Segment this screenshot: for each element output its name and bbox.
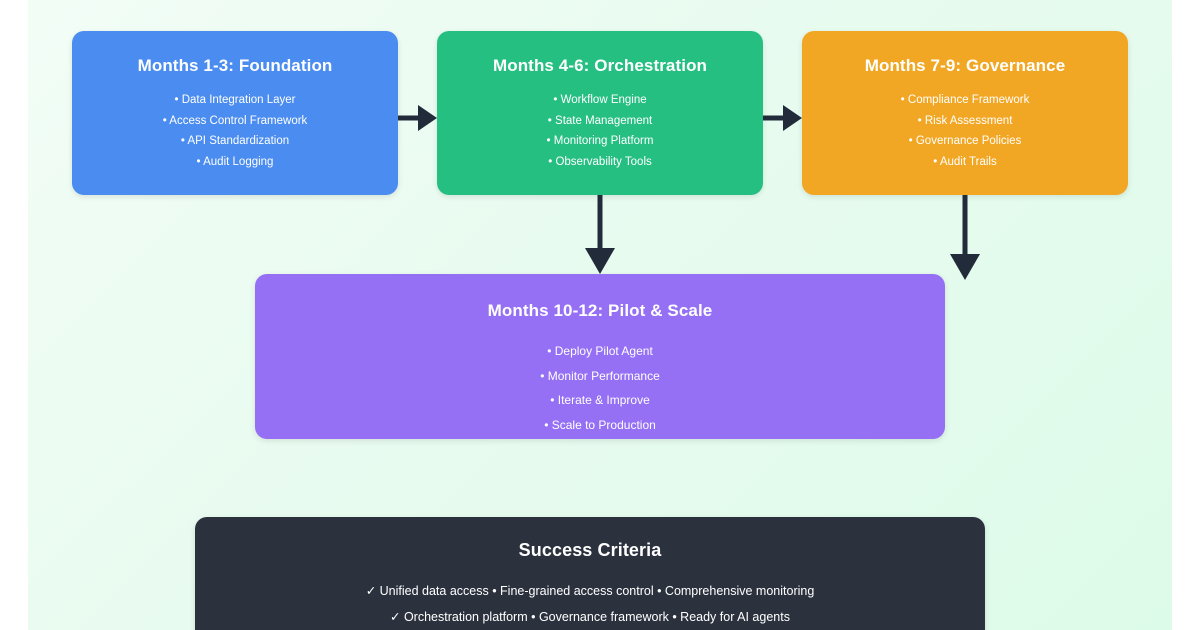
phase-card-foundation[interactable]: Months 1-3: Foundation • Data Integratio… [72,31,398,195]
list-item: • Governance Policies [802,131,1128,152]
success-criteria-lines: ✓ Unified data access • Fine-grained acc… [195,578,985,630]
success-criteria-panel: Success Criteria ✓ Unified data access •… [195,517,985,630]
arrow-right-icon [398,101,437,134]
list-item: • Workflow Engine [437,90,763,111]
arrow-shaft [963,195,968,256]
list-item: • Scale to Production [255,413,945,438]
success-criteria-line: ✓ Unified data access • Fine-grained acc… [195,578,985,604]
phase-card-items: • Data Integration Layer • Access Contro… [72,90,398,172]
list-item: • Audit Logging [72,152,398,173]
phase-card-title: Months 10-12: Pilot & Scale [255,300,945,321]
diagram-background: Months 1-3: Foundation • Data Integratio… [28,0,1172,630]
list-item: • Deploy Pilot Agent [255,339,945,364]
arrow-shaft [763,115,785,120]
arrow-head [950,254,980,280]
phase-card-items: • Compliance Framework • Risk Assessment… [802,90,1128,172]
list-item: • Risk Assessment [802,111,1128,132]
phase-card-title: Months 7-9: Governance [802,55,1128,76]
list-item: • Iterate & Improve [255,388,945,413]
phase-card-orchestration[interactable]: Months 4-6: Orchestration • Workflow Eng… [437,31,763,195]
list-item: • Observability Tools [437,152,763,173]
success-criteria-line: ✓ Orchestration platform • Governance fr… [195,604,985,630]
phase-card-title: Months 1-3: Foundation [72,55,398,76]
arrow-shaft [398,115,420,120]
list-item: • Data Integration Layer [72,90,398,111]
phase-card-pilot-scale[interactable]: Months 10-12: Pilot & Scale • Deploy Pil… [255,274,945,439]
list-item: • Compliance Framework [802,90,1128,111]
arrow-head [783,105,802,131]
phase-card-items: • Workflow Engine • State Management • M… [437,90,763,172]
arrow-down-icon [585,195,615,274]
phase-card-items: • Deploy Pilot Agent • Monitor Performan… [255,339,945,437]
arrow-head [585,248,615,274]
arrow-down-icon [950,195,980,280]
arrow-head [418,105,437,131]
phase-card-governance[interactable]: Months 7-9: Governance • Compliance Fram… [802,31,1128,195]
list-item: • Monitor Performance [255,364,945,389]
arrow-right-icon [763,101,802,134]
diagram-canvas: Months 1-3: Foundation • Data Integratio… [0,0,1200,630]
phase-card-title: Months 4-6: Orchestration [437,55,763,76]
success-criteria-title: Success Criteria [195,540,985,561]
list-item: • Monitoring Platform [437,131,763,152]
arrow-shaft [598,195,603,251]
list-item: • State Management [437,111,763,132]
list-item: • Audit Trails [802,152,1128,173]
list-item: • API Standardization [72,131,398,152]
list-item: • Access Control Framework [72,111,398,132]
